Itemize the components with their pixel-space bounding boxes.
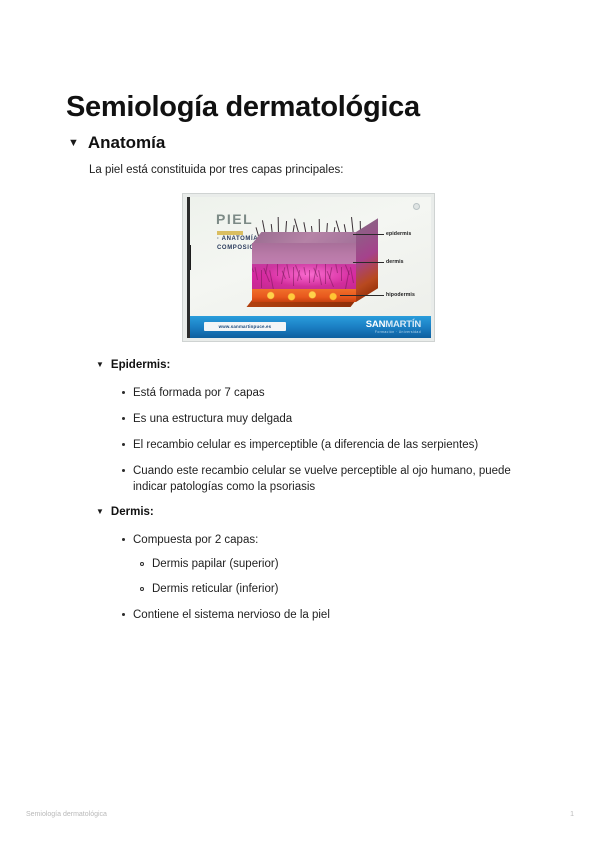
dermis-fiber: [269, 270, 274, 290]
dermis-fiber: [350, 267, 354, 283]
slide-canvas: PIEL · ANATOMÍA COMPOSICIÓN epidermisder…: [187, 197, 431, 338]
list-item: Compuesta por 2 capas:: [122, 532, 258, 548]
layer-epidermis: [252, 243, 356, 265]
dermis-fiber: [309, 270, 310, 283]
footer-document-name: Semiología dermatológica: [26, 811, 107, 818]
skin-block-side: [356, 218, 378, 302]
slide-footer-bar: www.sanmartinpuce.es SANMARTÍN Formación…: [190, 316, 431, 338]
slide-url-box: www.sanmartinpuce.es: [204, 322, 286, 331]
list-item-text: Cuando este recambio celular se vuelve p…: [133, 463, 525, 496]
list-item-text: El recambio celular es imperceptible (a …: [133, 437, 478, 453]
brand-name: SANMARTÍN: [366, 319, 421, 330]
bullet-dot-icon: [122, 417, 125, 420]
figure-label-epidermis: epidermis: [386, 231, 411, 237]
slide-title: PIEL: [216, 211, 253, 227]
brand-name-part2: MARTÍN: [385, 319, 421, 330]
list-item: Está formada por 7 capas: [122, 385, 265, 401]
list-item-text: Compuesta por 2 capas:: [133, 532, 258, 548]
footer-page-number: 1: [570, 811, 574, 818]
dermis-fiber: [277, 264, 278, 276]
chevron-down-icon[interactable]: ▼: [96, 508, 104, 516]
chevron-down-icon[interactable]: ▼: [96, 361, 104, 369]
outline-heading-label: Dermis:: [111, 506, 154, 518]
dermis-fiber: [318, 270, 322, 285]
figure-skin-layers-photo: PIEL · ANATOMÍA COMPOSICIÓN epidermisder…: [182, 193, 435, 342]
figure-leader-line: [340, 295, 384, 296]
bullet-dot-icon: [122, 613, 125, 616]
list-item: El recambio celular es imperceptible (a …: [122, 437, 478, 453]
bullet-dot-icon: [122, 469, 125, 472]
bullet-circle-icon: [140, 587, 144, 591]
bullet-dot-icon: [122, 443, 125, 446]
bullet-dot-icon: [122, 538, 125, 541]
dermis-fiber: [341, 267, 342, 281]
sub-list-item-text: Dermis reticular (inferior): [152, 581, 279, 597]
dermis-fiber: [303, 267, 306, 275]
slide-edge-tab: [187, 245, 191, 270]
outline-heading-epidermis[interactable]: ▼Epidermis:: [96, 359, 170, 371]
dermis-fiber: [335, 264, 338, 273]
section-heading-anatomia[interactable]: ▼ Anatomía: [68, 133, 165, 153]
slide-corner-dot-icon: [413, 203, 420, 210]
chevron-down-icon[interactable]: ▼: [68, 138, 79, 149]
outline-heading-label: Epidermis:: [111, 359, 170, 371]
dermis-fiber: [325, 264, 326, 284]
sub-list-item-text: Dermis papilar (superior): [152, 556, 279, 572]
dermis-fibers: [252, 264, 356, 290]
sub-list-item: Dermis reticular (inferior): [140, 581, 279, 597]
slide-brand-logo: SANMARTÍN Formación · Universidad: [366, 319, 421, 335]
dermis-fiber: [286, 264, 290, 278]
bullet-dot-icon: [122, 391, 125, 394]
dermis-fiber: [293, 267, 294, 286]
list-item-text: Está formada por 7 capas: [133, 385, 265, 401]
slide-accent-rule: [217, 231, 243, 235]
list-item: Es una estructura muy delgada: [122, 411, 292, 427]
sub-list-item: Dermis papilar (superior): [140, 556, 279, 572]
bullet-circle-icon: [140, 562, 144, 566]
figure-leader-line: [353, 234, 384, 235]
list-item-text: Contiene el sistema nervioso de la piel: [133, 607, 330, 623]
page-title: Semiología dermatológica: [66, 91, 420, 124]
brand-tagline: Formación · Universidad: [366, 330, 421, 335]
dermis-fiber: [252, 264, 254, 272]
section-intro-text: La piel está constituida por tres capas …: [89, 164, 343, 176]
section-heading-label: Anatomía: [88, 133, 165, 153]
list-item: Contiene el sistema nervioso de la piel: [122, 607, 330, 623]
skin-block-diagram: [252, 226, 370, 314]
dermis-fiber: [255, 267, 258, 280]
figure-label-dermis: dermis: [386, 259, 404, 265]
figure-label-hipodermis: hipodermis: [386, 292, 415, 298]
dermis-fiber: [261, 270, 262, 288]
list-item: Cuando este recambio celular se vuelve p…: [122, 463, 525, 496]
figure-leader-line: [353, 262, 384, 263]
outline-heading-dermis[interactable]: ▼Dermis:: [96, 506, 154, 518]
list-item-text: Es una estructura muy delgada: [133, 411, 292, 427]
brand-name-part1: SAN: [366, 319, 385, 330]
document-page: Semiología dermatológica ▼ Anatomía La p…: [0, 0, 600, 848]
